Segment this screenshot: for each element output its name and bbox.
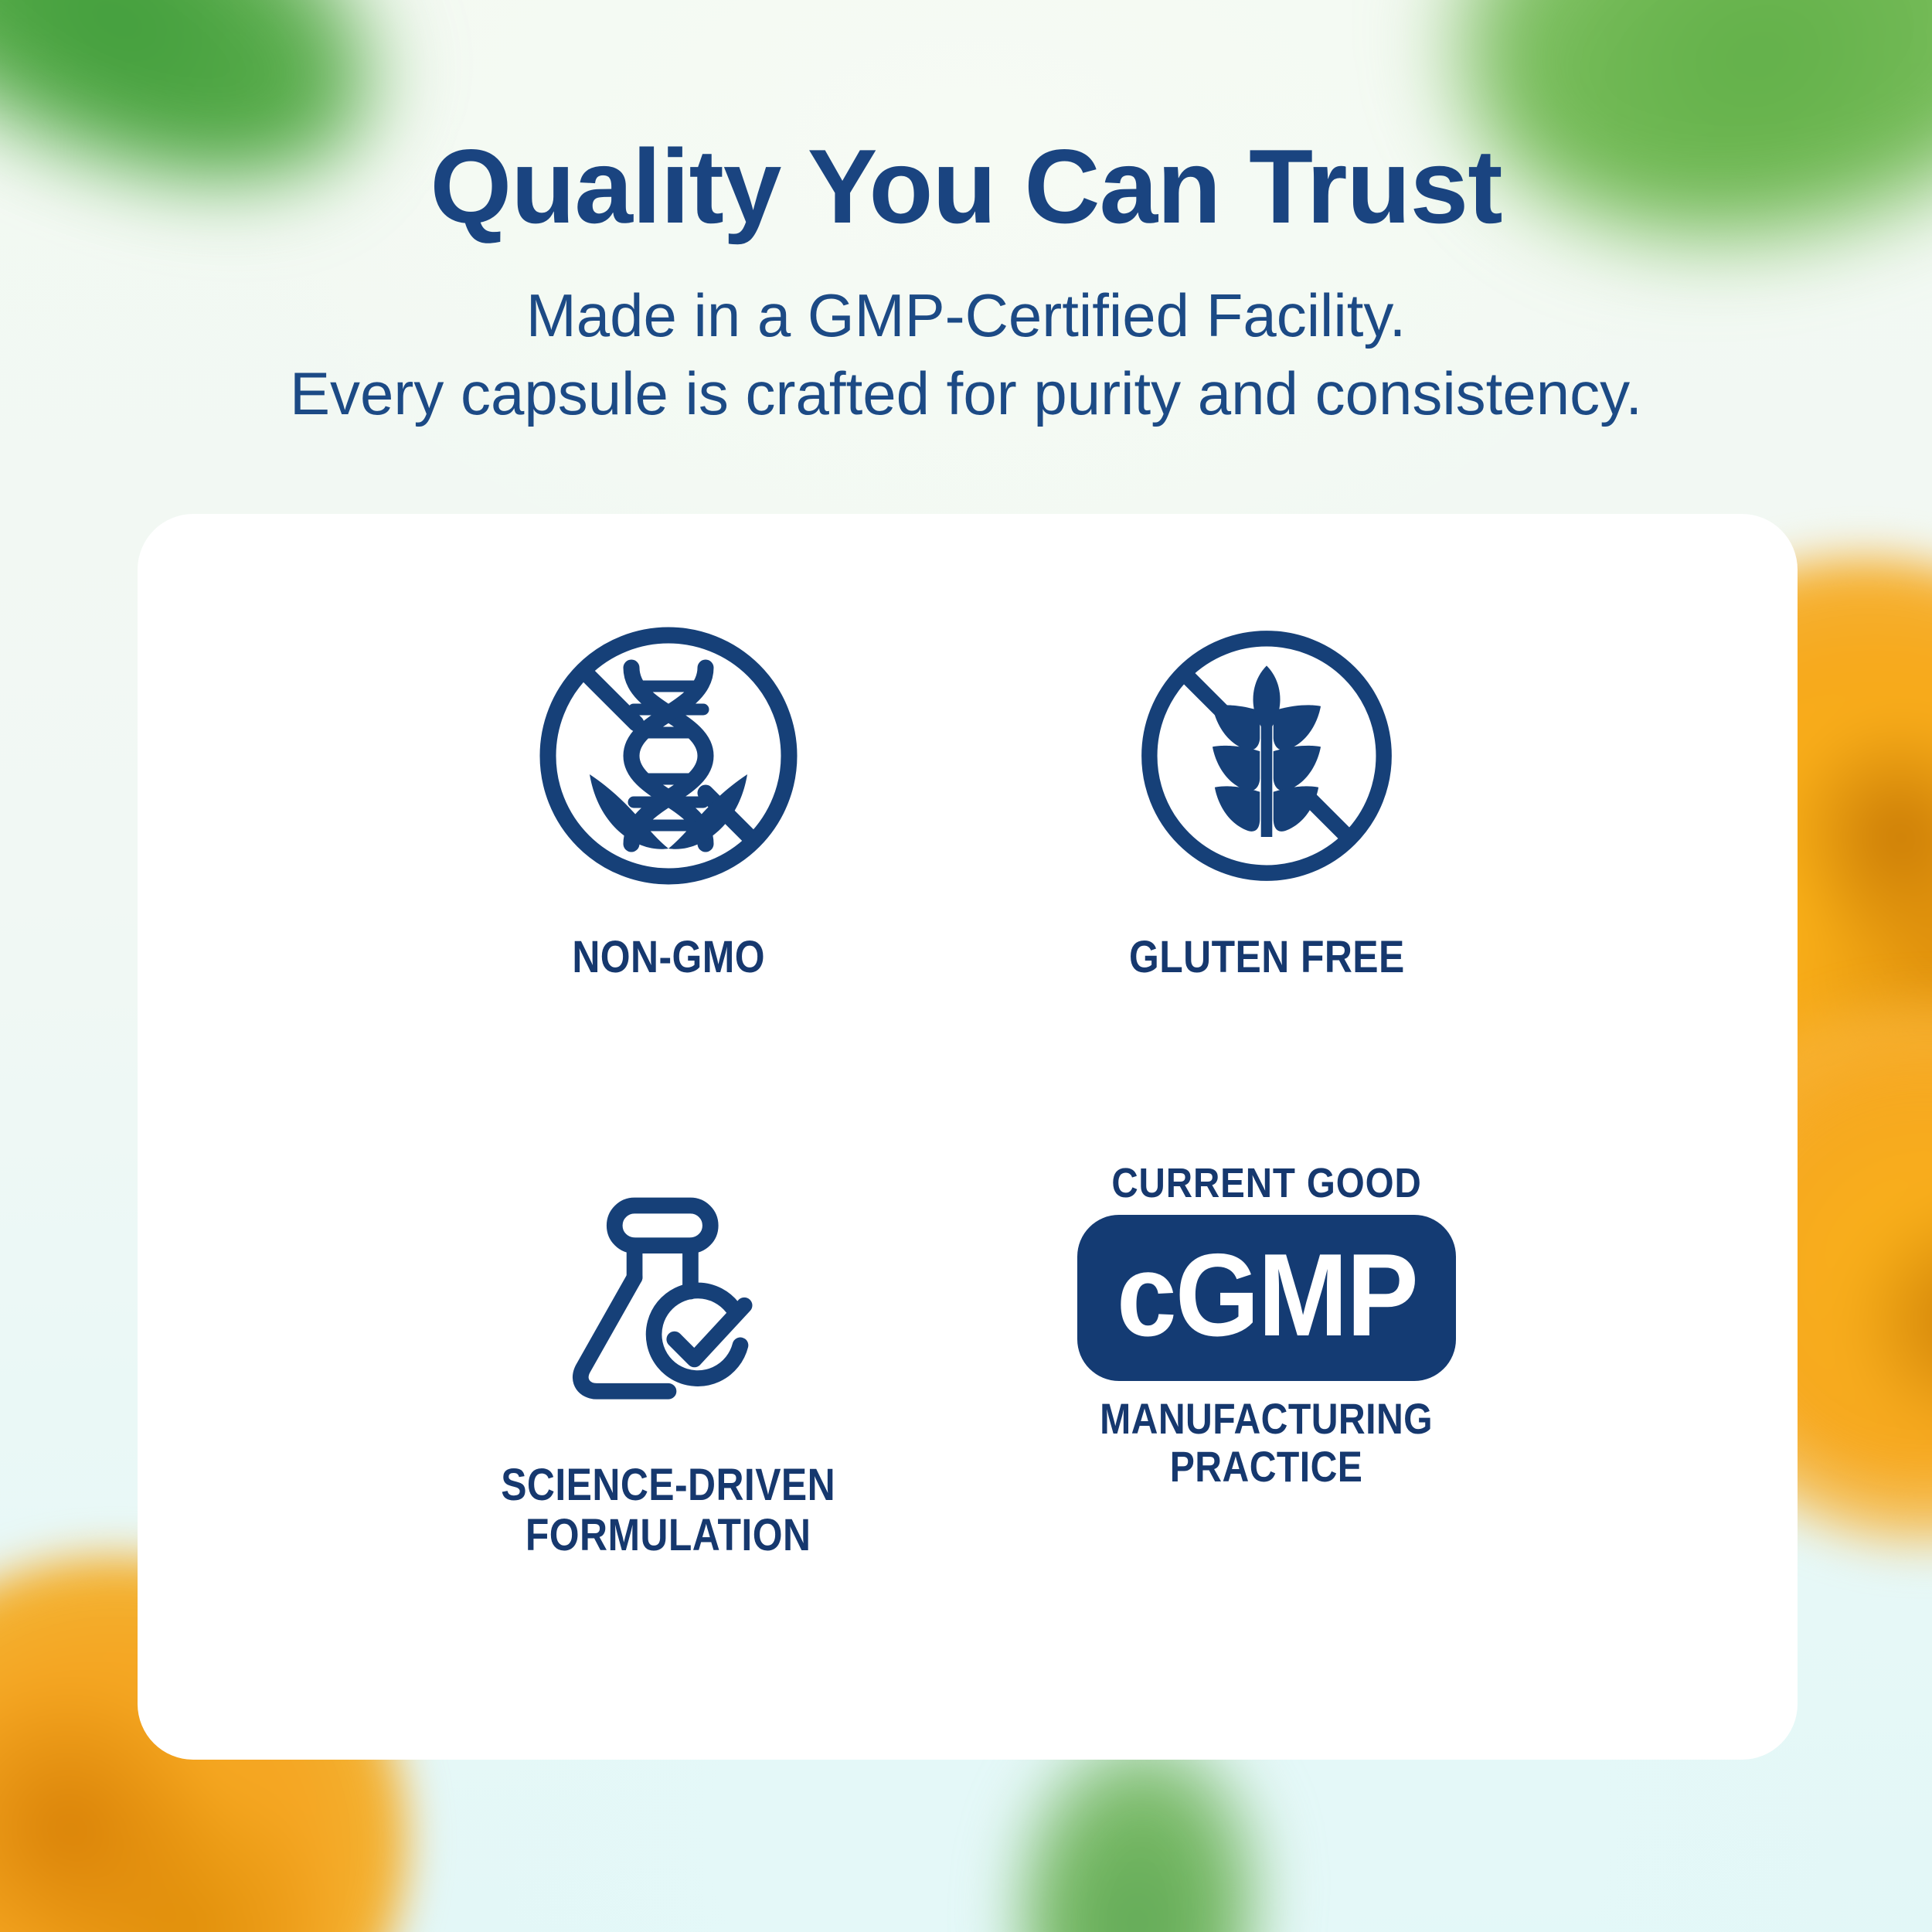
badge-non-gmo-art: [529, 605, 808, 906]
promo-graphic: Quality You Can Trust Made in a GMP-Cert…: [0, 0, 1932, 1932]
cgmp-pill: cGMP: [1077, 1215, 1456, 1381]
cgmp-pill-text: cGMP: [1117, 1236, 1417, 1354]
badge-cgmp: CURRENT GOOD cGMP MANUFACTURING PRACTICE: [968, 1145, 1566, 1685]
no-wheat-stalk-icon: [1131, 621, 1402, 891]
cgmp-top-text: CURRENT GOOD: [1111, 1162, 1421, 1204]
badge-science-driven-label: SCIENCE-DRIVEN FORMULATION: [502, 1461, 836, 1561]
badge-non-gmo-label: NON-GMO: [572, 933, 765, 983]
trust-badge-card: NON-GMO: [138, 514, 1798, 1760]
page-subtitle-line-1: Made in a GMP-Certified Facility.: [526, 281, 1406, 349]
cgmp-bottom-text: MANUFACTURING PRACTICE: [1100, 1395, 1434, 1490]
content-layer: Quality You Can Trust Made in a GMP-Cert…: [0, 0, 1932, 1932]
badge-gluten-free: GLUTEN FREE: [968, 605, 1566, 1145]
badge-science-driven: SCIENCE-DRIVEN FORMULATION: [369, 1145, 968, 1685]
badge-gluten-free-label: GLUTEN FREE: [1129, 933, 1405, 983]
trust-badge-grid: NON-GMO: [138, 514, 1798, 1760]
no-gmo-dna-leaf-icon: [529, 617, 808, 895]
page-subtitle: Made in a GMP-Certified Facility. Every …: [0, 277, 1932, 434]
badge-gluten-free-art: [1131, 605, 1402, 906]
page-title: Quality You Can Trust: [0, 133, 1932, 240]
flask-check-icon: [549, 1182, 788, 1421]
badge-science-driven-art: [549, 1162, 788, 1440]
page-subtitle-line-2: Every capsule is crafted for purity and …: [0, 355, 1932, 433]
badge-non-gmo: NON-GMO: [369, 605, 968, 1145]
cgmp-badge-icon: CURRENT GOOD cGMP MANUFACTURING PRACTICE: [1073, 1162, 1460, 1490]
